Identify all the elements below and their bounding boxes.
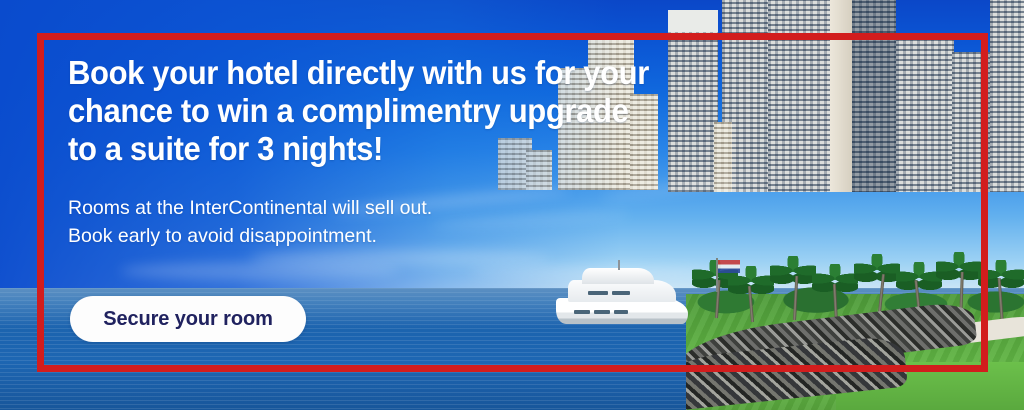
- subcopy: Rooms at the InterContinental will sell …: [68, 168, 688, 250]
- cloud: [120, 262, 400, 280]
- palm-tree: [978, 260, 1024, 326]
- bayfront-park: [686, 252, 1024, 410]
- palm-tree: [770, 256, 816, 320]
- banner-content: Book your hotel directly with us for you…: [68, 54, 688, 250]
- headline: Book your hotel directly with us for you…: [68, 54, 651, 168]
- secure-your-room-button[interactable]: Secure your room: [70, 296, 306, 342]
- palm-tree: [728, 266, 774, 322]
- flag-pole: [716, 258, 718, 292]
- promo-banner: Book your hotel directly with us for you…: [0, 0, 1024, 410]
- yacht: [556, 262, 688, 324]
